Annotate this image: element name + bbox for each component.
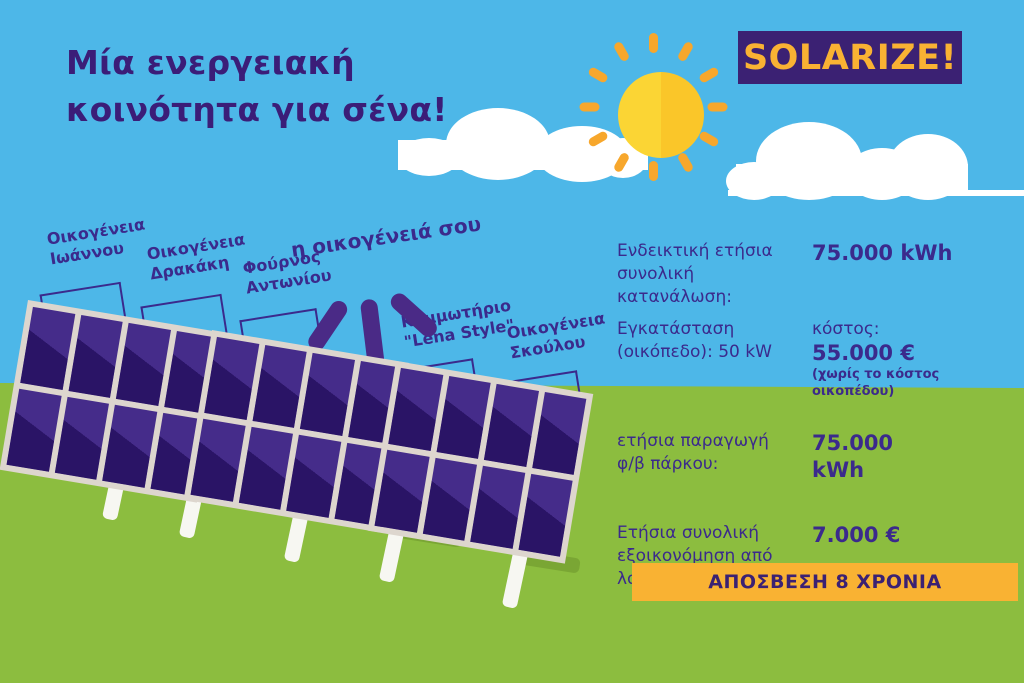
solarize-logo: SOLARIZE!	[738, 31, 962, 84]
stat-label-line1: Ετήσια συνολική	[617, 522, 812, 545]
stat-label-line1: Ενδεικτική ετήσια	[617, 240, 812, 263]
sun-icon	[598, 52, 708, 162]
stat-value-text: 7.000 €	[812, 523, 900, 547]
participant-label-1: Οικογένεια Ιωάννου	[45, 215, 149, 270]
page-title: Μία ενεργειακή κοινότητα για σένα!	[66, 40, 486, 134]
stat-value-note: (χωρίς το κόστος οικοπέδου)	[812, 367, 1017, 400]
stat-value: 75.000 kWh	[812, 240, 1017, 318]
stat-label: ετήσια παραγωγή φ/β πάρκου:	[617, 430, 812, 522]
cloud-icon	[736, 112, 968, 196]
stats-table: Ενδεικτική ετήσια συνολική κατανάλωση: 7…	[617, 240, 1017, 612]
logo-text: SOLARIZE!	[743, 38, 957, 78]
stat-row: Εγκατάσταση (οικόπεδο): 50 kW κόστος: 55…	[617, 318, 1017, 430]
payback-banner: ΑΠΟΣΒΕΣΗ 8 ΧΡΟΝΙΑ	[632, 563, 1018, 601]
stat-value: κόστος: 55.000 € (χωρίς το κόστος οικοπέ…	[812, 318, 1017, 430]
stat-value-prefix: κόστος:	[812, 318, 1017, 340]
stat-label-line1: Εγκατάσταση	[617, 318, 812, 341]
participant-label-2: Οικογένεια Δρακάκη	[145, 230, 249, 285]
headline-line-2: κοινότητα για σένα!	[66, 87, 486, 134]
sun-core	[618, 72, 704, 158]
stat-label-line2: φ/β πάρκου:	[617, 453, 812, 476]
stat-value-text: 55.000 €	[812, 341, 915, 365]
stat-value-text: 75.000 kWh	[812, 431, 893, 482]
stat-label: Εγκατάσταση (οικόπεδο): 50 kW	[617, 318, 812, 430]
stat-label: Ενδεικτική ετήσια συνολική κατανάλωση:	[617, 240, 812, 318]
stat-label-line1: ετήσια παραγωγή	[617, 430, 812, 453]
stat-row: Ενδεικτική ετήσια συνολική κατανάλωση: 7…	[617, 240, 1017, 318]
payback-banner-text: ΑΠΟΣΒΕΣΗ 8 ΧΡΟΝΙΑ	[708, 571, 941, 593]
stat-value: 75.000 kWh	[812, 430, 932, 522]
infographic-canvas: Μία ενεργειακή κοινότητα για σένα! SOLAR…	[0, 0, 1024, 683]
stat-value-text: 75.000 kWh	[812, 241, 952, 265]
stat-label-line2: συνολική κατανάλωση:	[617, 263, 812, 309]
cloud-strip	[728, 190, 1024, 196]
stat-label-line2: (οικόπεδο): 50 kW	[617, 341, 812, 364]
headline-line-1: Μία ενεργειακή	[66, 40, 486, 87]
your-family-label: η οικογένειά σου	[289, 206, 520, 262]
solar-panel	[368, 361, 594, 564]
solar-panel-array	[0, 286, 600, 606]
stat-row: ετήσια παραγωγή φ/β πάρκου: 75.000 kWh	[617, 430, 1017, 522]
